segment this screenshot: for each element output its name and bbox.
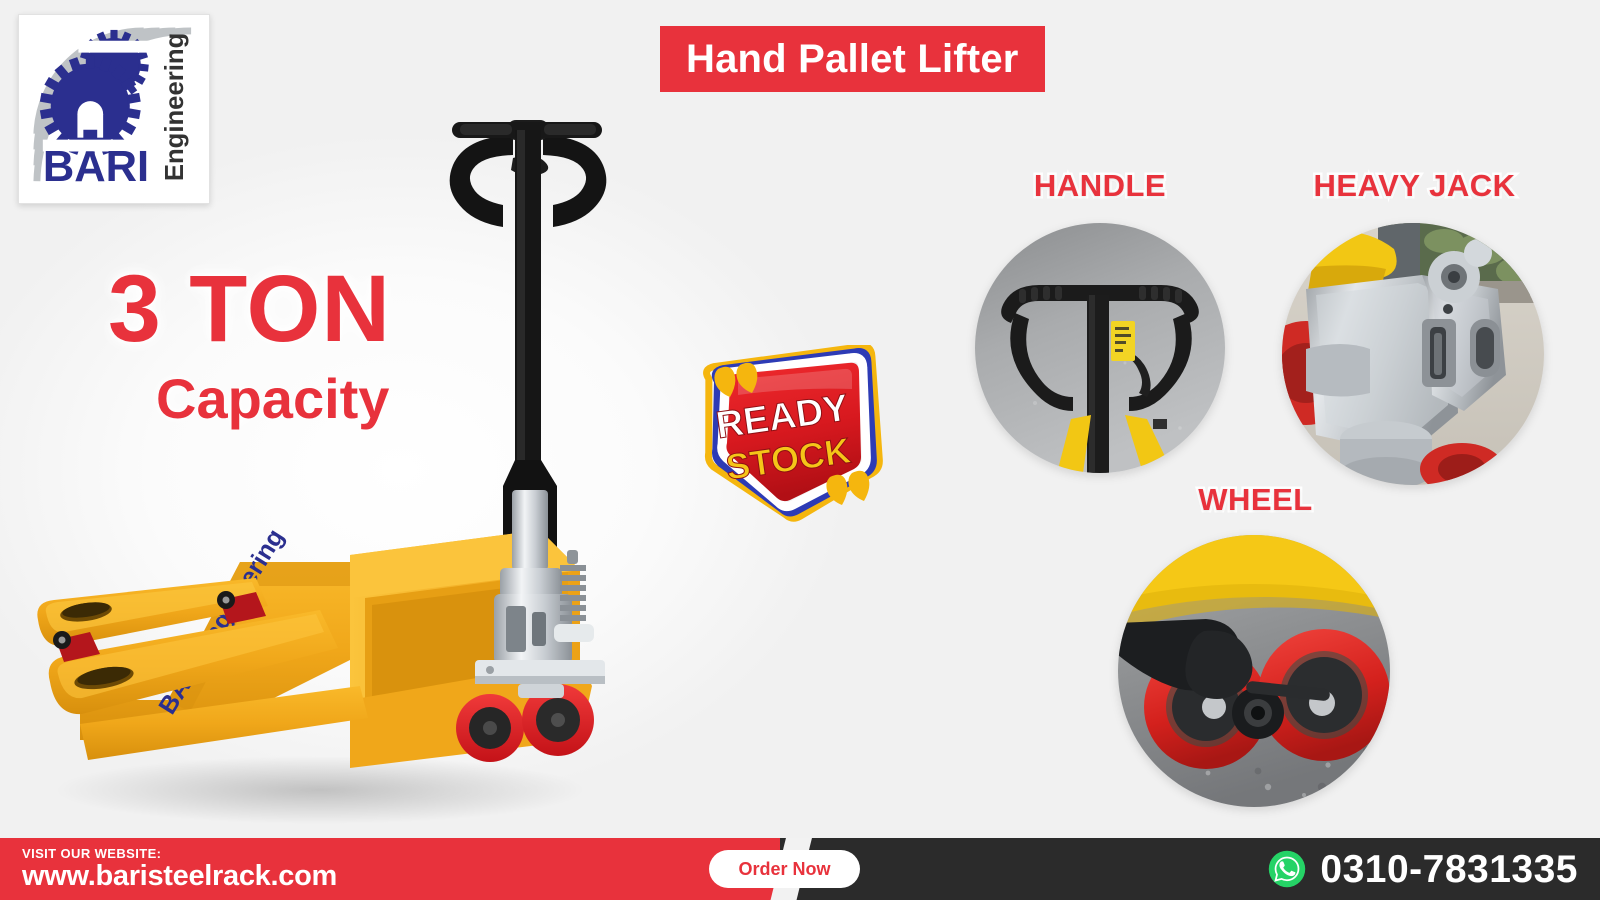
feature-wheel: WHEEL xyxy=(1118,482,1393,812)
feature-wheel-label: WHEEL xyxy=(1198,482,1312,518)
order-now-button[interactable]: Order Now xyxy=(709,850,860,888)
feature-handle: HANDLE xyxy=(975,168,1225,473)
product-image: BARI Engineering xyxy=(20,100,660,830)
tandem-wheel-closeup-graphic xyxy=(1118,535,1390,807)
ready-stock-badge: READY STOCK xyxy=(678,345,890,530)
feature-handle-label: HANDLE xyxy=(1034,168,1166,204)
poster-canvas: BARI Engineering Hand Pallet Lifter 3 TO… xyxy=(0,0,1600,900)
feature-jack-label: HEAVY JACK xyxy=(1314,168,1516,204)
order-now-label: Order Now xyxy=(738,859,830,880)
ready-stock-badge-graphic: READY STOCK xyxy=(678,345,890,530)
handle-closeup-photo xyxy=(975,223,1225,473)
handle-closeup-graphic xyxy=(975,223,1225,473)
hydraulic-jack-closeup-photo xyxy=(1282,223,1544,485)
website-url[interactable]: www.baristeelrack.com xyxy=(22,861,337,891)
footer-bar: VISIT OUR WEBSITE: www.baristeelrack.com… xyxy=(0,838,1600,900)
page-title-banner: Hand Pallet Lifter xyxy=(660,26,1045,92)
page-title: Hand Pallet Lifter xyxy=(686,39,1019,79)
hand-pallet-truck-illustration: BARI Engineering xyxy=(20,100,660,830)
whatsapp-icon[interactable] xyxy=(1268,850,1306,888)
phone-number[interactable]: 0310-7831335 xyxy=(1320,850,1578,889)
website-label: VISIT OUR WEBSITE: xyxy=(22,847,337,861)
website-block[interactable]: VISIT OUR WEBSITE: www.baristeelrack.com xyxy=(22,847,337,892)
hydraulic-jack-closeup-graphic xyxy=(1282,223,1544,485)
tandem-wheel-closeup-photo xyxy=(1118,535,1390,807)
feature-heavy-jack: HEAVY JACK xyxy=(1282,168,1547,483)
phone-block[interactable]: 0310-7831335 xyxy=(1268,838,1578,900)
